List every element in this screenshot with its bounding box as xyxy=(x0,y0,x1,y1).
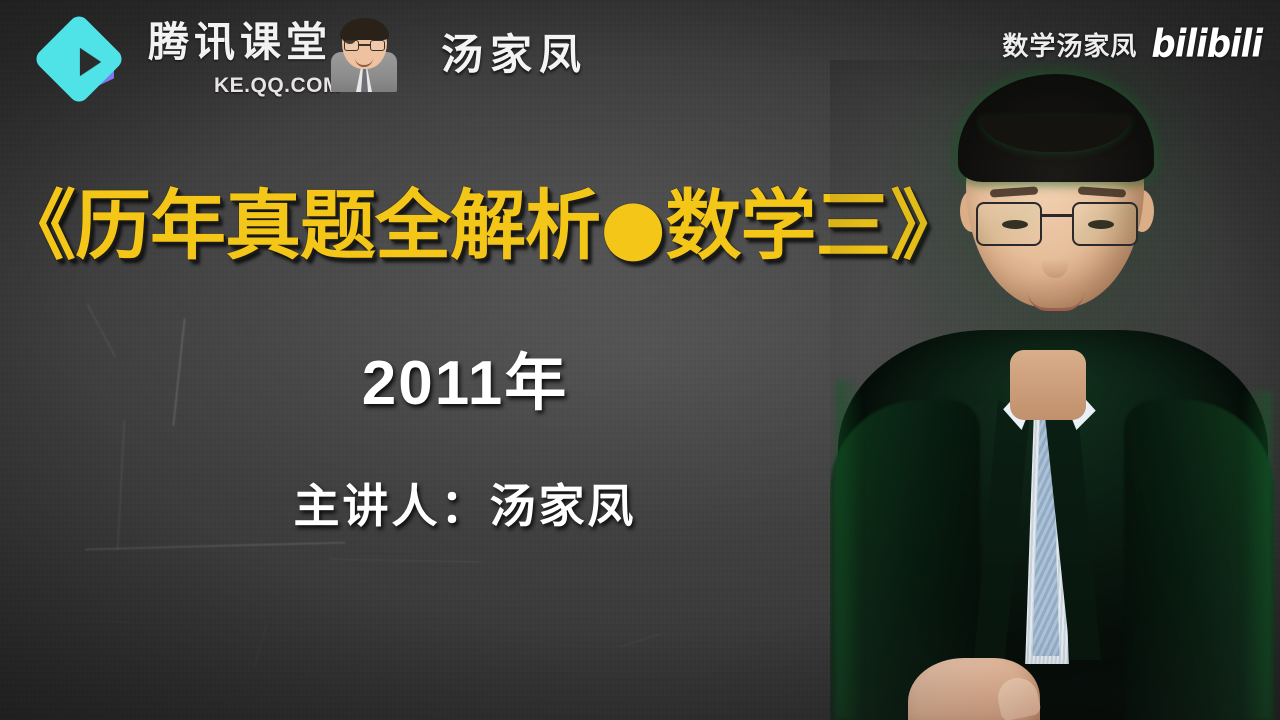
avatar-lens-right xyxy=(370,40,385,51)
presenter-portrait xyxy=(830,60,1280,720)
cap-top-shape xyxy=(32,12,125,105)
graduation-cap-play-icon xyxy=(40,12,132,104)
avatar-glasses-icon xyxy=(344,40,385,51)
teacher-tag: 汤家凤 xyxy=(325,10,588,92)
channel-name: 数学汤家凤 xyxy=(1002,26,1137,63)
portrait-lens-left xyxy=(976,202,1042,246)
portrait-green-edge-left xyxy=(836,380,862,720)
play-triangle-icon xyxy=(80,48,101,76)
teacher-cartoon-avatar xyxy=(325,10,403,92)
portrait-lens-right xyxy=(1072,202,1138,246)
avatar-hair xyxy=(340,18,389,40)
portrait-glasses-bridge xyxy=(1042,214,1072,217)
portrait-neck xyxy=(1010,350,1086,420)
platform-name: 腾讯课堂 xyxy=(148,22,341,63)
platform-url: KE.QQ.COM xyxy=(214,74,341,98)
video-frame: 腾讯课堂 KE.QQ.COM 汤家凤 数学汤家凤 bilibili 《历年真题全… xyxy=(0,0,1280,720)
teacher-name: 汤家凤 xyxy=(441,21,588,82)
platform-brand-text: 腾讯课堂 KE.QQ.COM xyxy=(148,12,341,98)
platform-brand: 腾讯课堂 KE.QQ.COM xyxy=(40,12,341,104)
portrait-glasses-icon xyxy=(976,202,1138,248)
portrait-nose xyxy=(1042,246,1068,278)
avatar-lens-left xyxy=(344,40,359,51)
avatar-glasses-bridge xyxy=(359,44,370,46)
portrait-green-edge-right xyxy=(1242,390,1272,720)
channel-watermark: 数学汤家凤 bilibili xyxy=(1002,24,1262,64)
